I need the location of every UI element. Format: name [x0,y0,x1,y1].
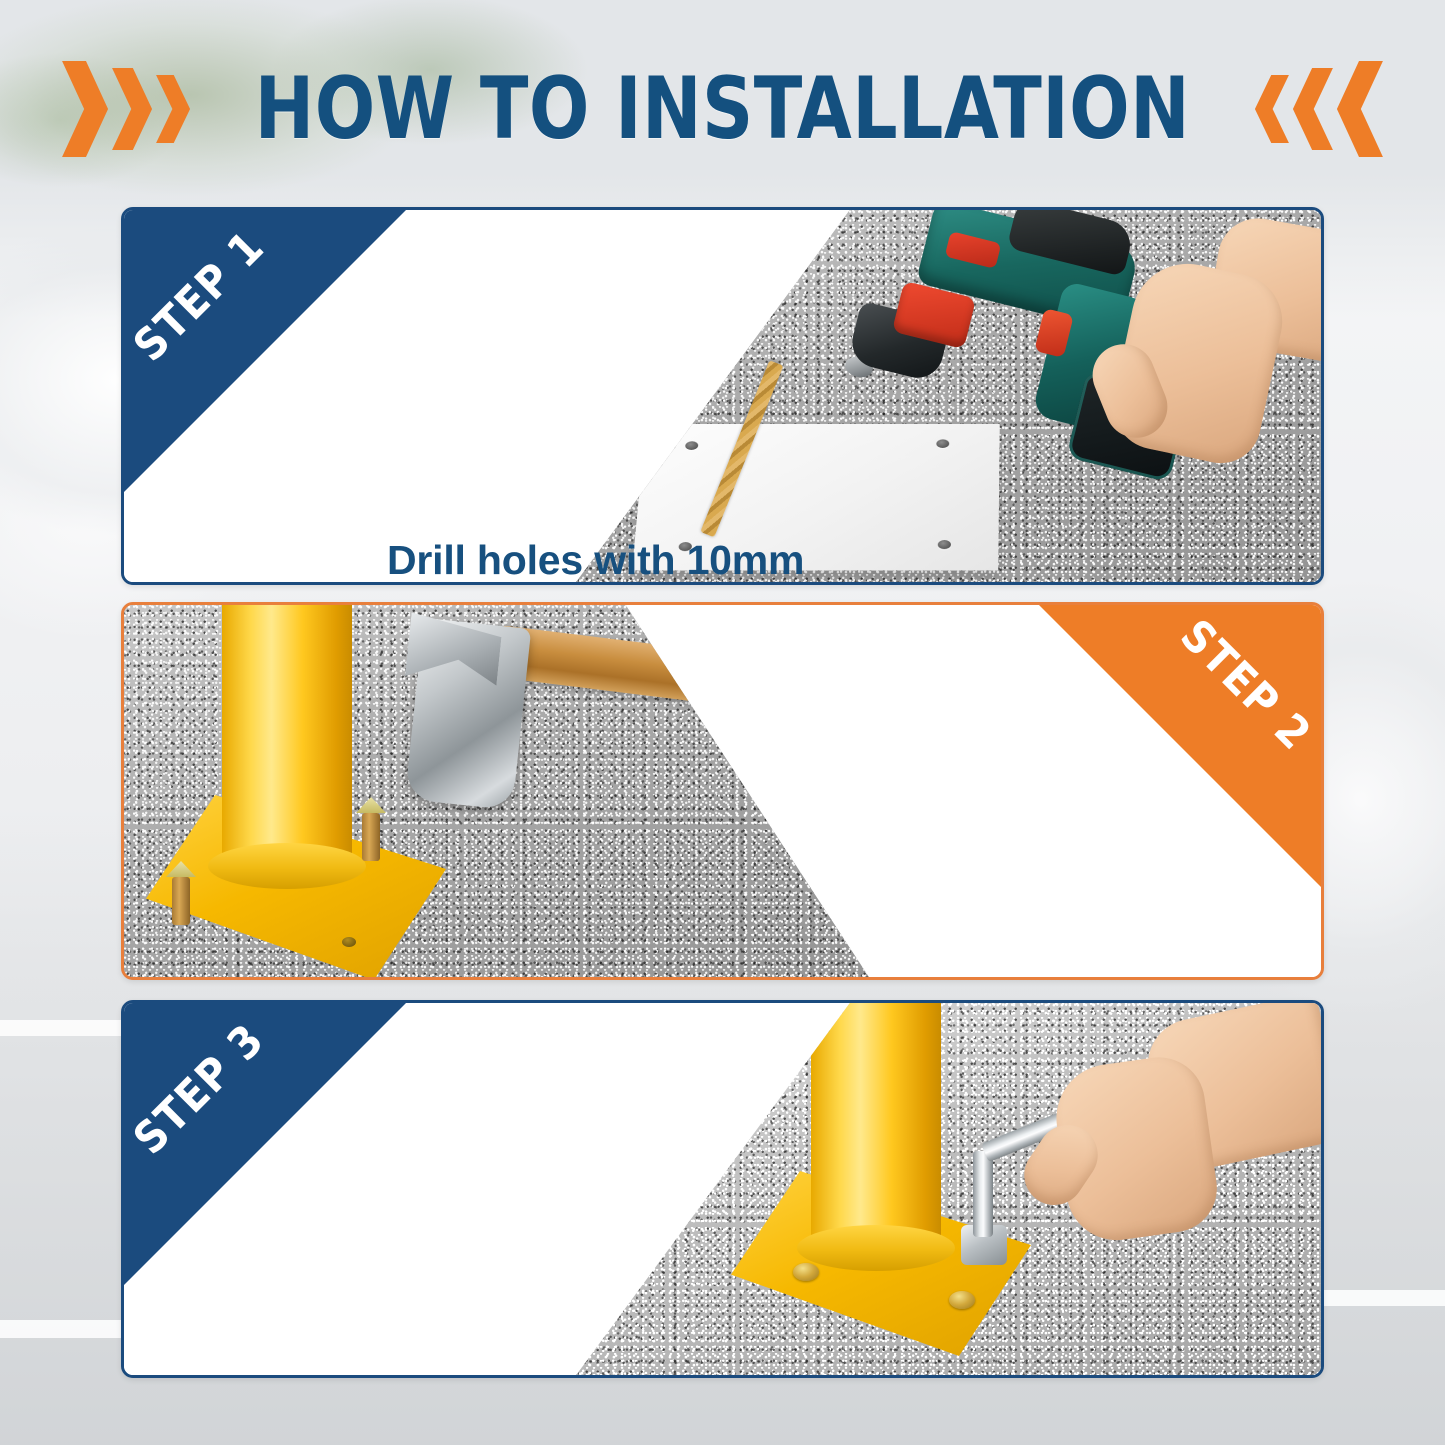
step-card-3: STEP 3 Tighten the bolts S [121,1000,1324,1378]
bollard-foot [797,1225,955,1271]
bollard-post [811,1003,941,1243]
step-3-badge: STEP 3 [124,1003,406,1285]
plate-hole [938,540,951,549]
page-title: HOW TO INSTALLATION [255,59,1191,159]
plate-hole [342,937,356,947]
chevron-left-triple-icon [1255,61,1383,157]
step-2-badge: STEP 2 [1039,605,1321,887]
cordless-drill-icon [861,215,1281,515]
chevron-left-icon [1337,61,1383,157]
page-header: HOW TO INSTALLATION [0,44,1445,174]
chevron-right-triple-icon [62,61,190,157]
expansion-bolt-shaft [362,813,380,861]
step-card-1: STEP 1 Drill holes with 10mm drill bitba… [121,207,1324,585]
step-3-photo [561,1003,1321,1375]
bolt-head [793,1263,819,1281]
expansion-bolt-shaft [172,877,190,925]
plate-hole [685,441,699,450]
bolt-head [949,1291,975,1309]
step-1-badge-label: STEP 1 [124,221,275,372]
step-2-badge-label: STEP 2 [1170,610,1321,761]
chevron-left-icon [1255,75,1289,143]
step-1-badge: STEP 1 [124,210,406,492]
hex-key-icon [973,1151,993,1237]
step-3-badge-label: STEP 3 [124,1014,275,1165]
bollard-foot [208,843,366,889]
chevron-right-icon [112,68,152,150]
step-1-photo [561,210,1321,582]
step-1-text: Drill holes with 10mm drill bitbased on … [387,532,857,585]
step-1-text-line-1: Drill holes with 10mm [387,532,857,585]
step-2-photo [124,605,884,977]
chevron-right-icon [156,75,190,143]
chevron-left-icon [1293,68,1333,150]
step-card-2: STEP 2 Drive in expansion bolts [121,602,1324,980]
infographic-page: HOW TO INSTALLATION [0,0,1445,1445]
chevron-right-icon [62,61,108,157]
bollard-post [222,605,352,859]
